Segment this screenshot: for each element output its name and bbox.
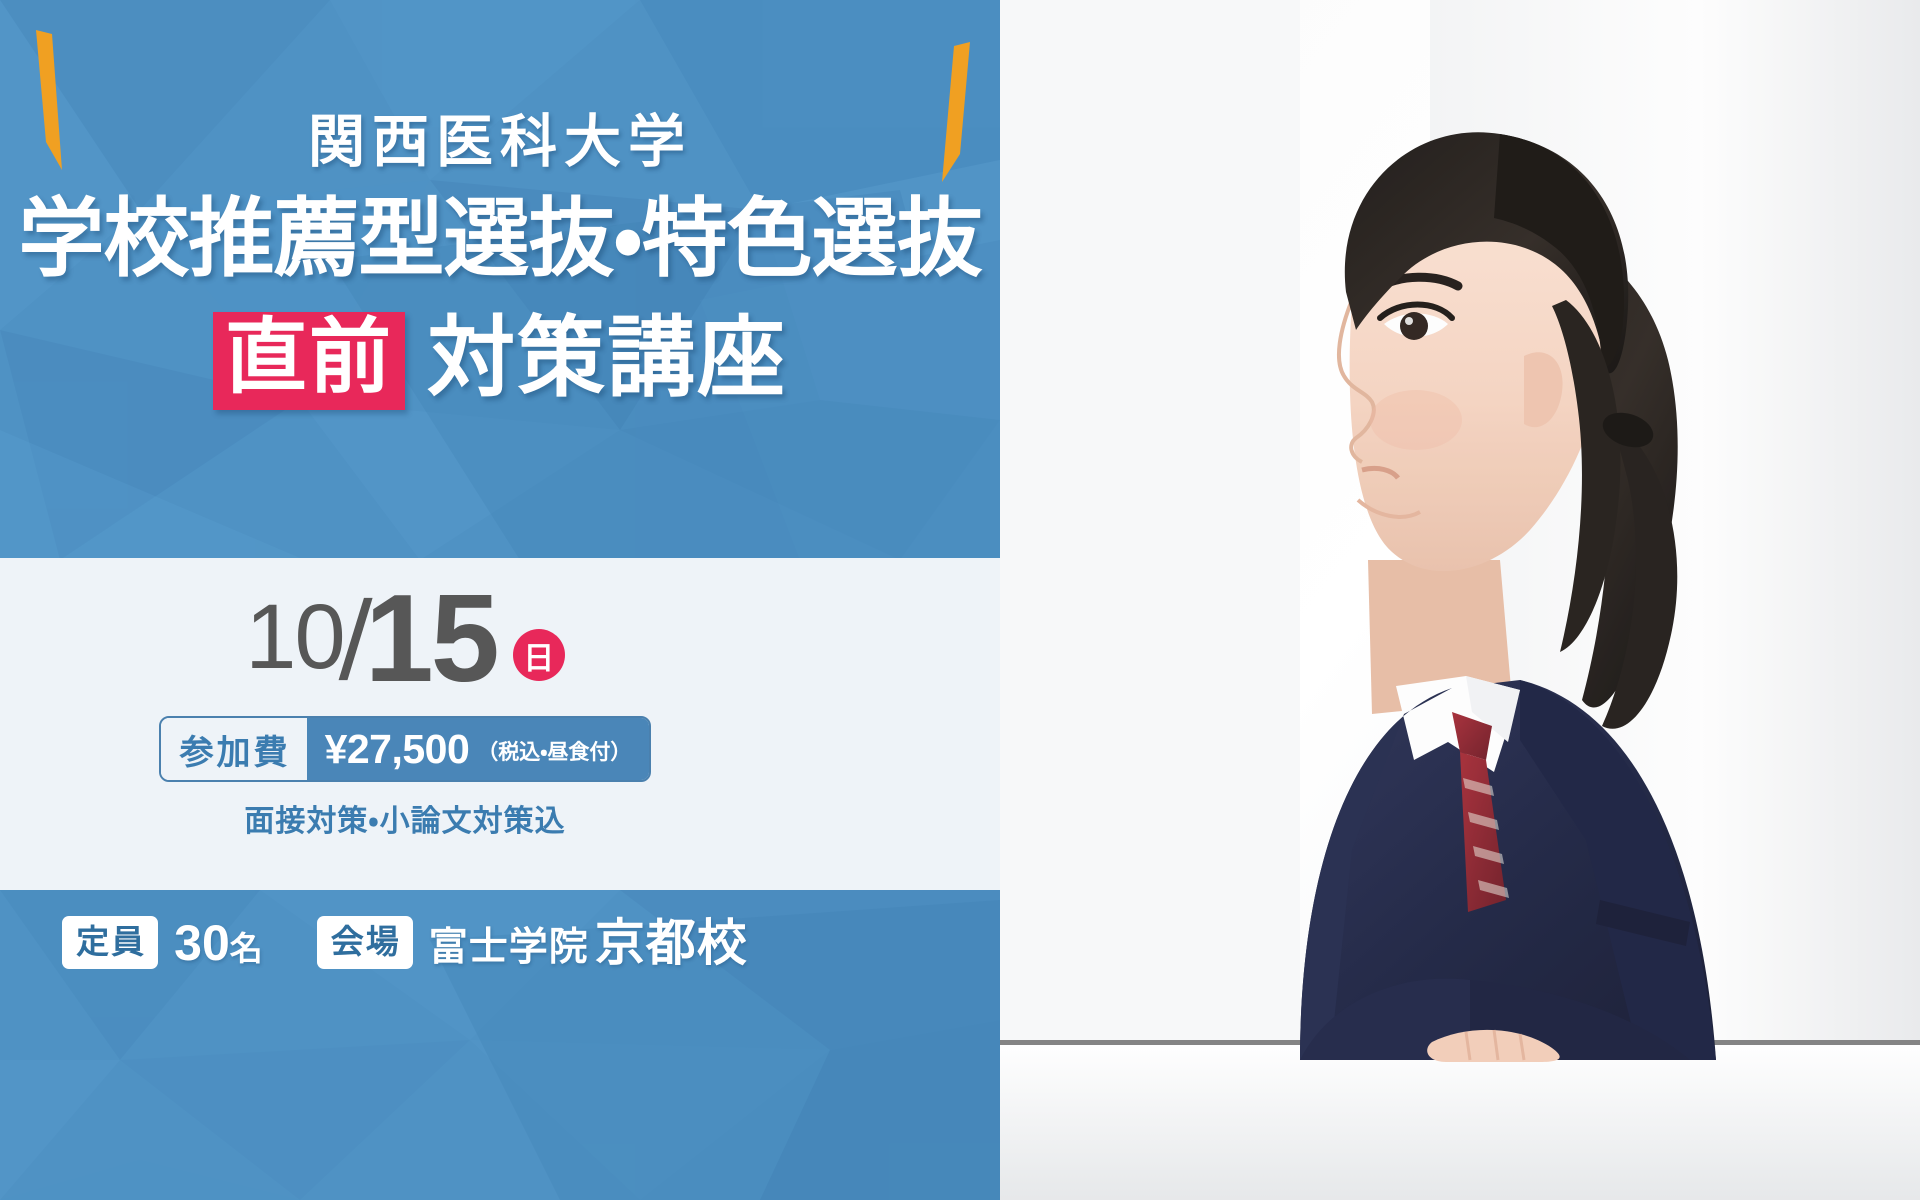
promo-banner: 関西医科大学 学校推薦型選抜・特色選抜 直前 対策講座 10 / 15 日 参加… [0, 0, 1920, 1200]
venue-campus: 京都校 [595, 915, 748, 971]
headline-secondary: 直前 対策講座 [0, 312, 1000, 410]
fee-row: 参加費 ¥27,500 （税込・昼食付） [0, 716, 810, 782]
venue-value: 富士学院京都校 [429, 918, 748, 968]
capacity-unit: 名 [230, 930, 263, 967]
fee-value-group: ¥27,500 （税込・昼食付） [307, 718, 650, 780]
venue-item: 会場 富士学院京都校 [317, 916, 748, 969]
university-name: 関西医科大学 [0, 96, 1000, 178]
headline-course-label: 対策講座 [427, 314, 787, 408]
fee-label: 参加費 [161, 718, 307, 780]
date-separator: / [338, 585, 373, 697]
schedule-fee-panel: 10 / 15 日 参加費 ¥27,500 （税込・昼食付） 面接対策・小論文対… [0, 558, 1000, 890]
title-block: 関西医科大学 学校推薦型選抜・特色選抜 直前 対策講座 [0, 0, 1000, 558]
day-of-week-badge: 日 [513, 629, 565, 681]
fee-note: （税込・昼食付） [477, 742, 631, 763]
event-date: 10 / 15 日 [0, 582, 810, 697]
student-photo-illustration [1000, 0, 1920, 1200]
event-month: 10 [245, 591, 343, 683]
venue-label: 会場 [317, 916, 413, 969]
left-info-panel: 関西医科大学 学校推薦型選抜・特色選抜 直前 対策講座 10 / 15 日 参加… [0, 0, 1000, 1200]
capacity-value: 30名 [174, 918, 263, 968]
capacity-label: 定員 [62, 916, 158, 969]
fee-inclusions: 面接対策・小論文対策込 [0, 796, 810, 840]
capacity-venue-strip: 定員 30名 会場 富士学院京都校 [0, 890, 1000, 1200]
event-day: 15 [365, 582, 497, 697]
venue-organization: 富士学院 [429, 926, 589, 969]
capacity-item: 定員 30名 [62, 916, 263, 969]
fee-amount: ¥27,500 [325, 729, 470, 770]
student-photo [1000, 0, 1920, 1200]
meta-row: 定員 30名 会場 富士学院京都校 [0, 916, 810, 969]
fee-box: 参加費 ¥27,500 （税込・昼食付） [159, 716, 652, 782]
headline-primary: 学校推薦型選抜・特色選抜 [0, 196, 1000, 282]
headline-emphasis-badge: 直前 [213, 312, 405, 410]
capacity-number: 30 [174, 915, 230, 971]
